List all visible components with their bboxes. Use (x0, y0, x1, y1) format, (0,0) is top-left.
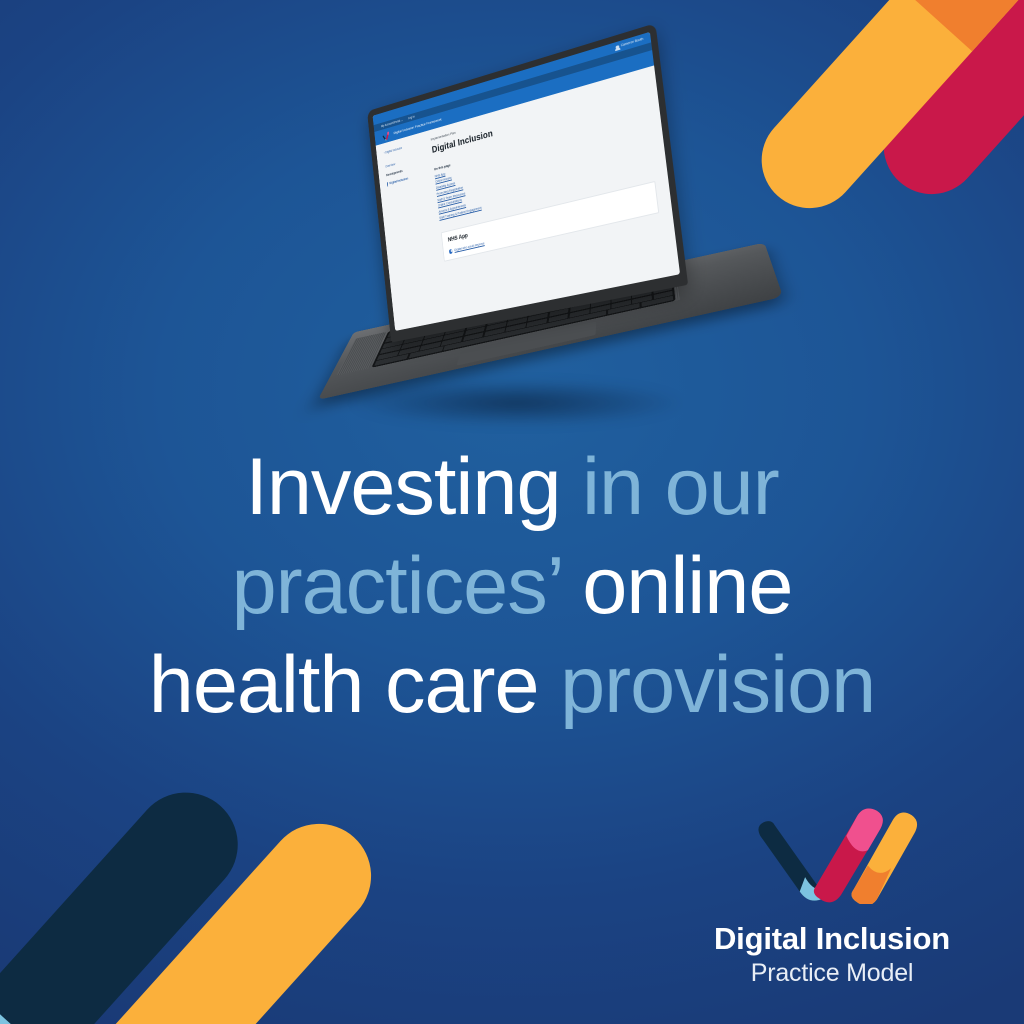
headline: Investing in our practices’ online healt… (0, 438, 1024, 734)
headline-word-practices: practices’ (232, 541, 561, 631)
brand-lockup: Digital Inclusion Practice Model (682, 800, 982, 988)
headline-word-online: online (582, 541, 792, 631)
lockup-title: Digital Inclusion (682, 922, 982, 956)
laptop-mockup: Cameron Booth My Account/Portal ⌄ Log in (280, 0, 841, 448)
digital-inclusion-logo-icon (742, 800, 922, 904)
headline-word-health-care: health care (149, 640, 539, 730)
ribbon-light-blue-bar (0, 771, 259, 1024)
poster-canvas: Cameron Booth My Account/Portal ⌄ Log in (0, 0, 1024, 1024)
logo-pink-highlight (846, 808, 883, 851)
ribbon-orange-bar-bottom (27, 802, 392, 1024)
headline-line-2: practices’ online (48, 537, 976, 636)
ribbon-pink-bar (864, 0, 1024, 214)
sidebar-breadcrumb[interactable]: ‹ Digital Inclusion (384, 138, 431, 156)
ribbon-navy-bar (0, 771, 259, 1024)
back-arrow-icon (449, 249, 453, 254)
headline-line-1: Investing in our (48, 438, 976, 537)
digital-inclusion-mark-icon (382, 129, 392, 141)
user-icon (616, 45, 619, 49)
headline-word-investing: Investing (245, 442, 560, 532)
headline-line-3: health care provision (48, 636, 976, 735)
back-link-label: Digital who could improve (454, 241, 485, 253)
headline-word-in-our: in our (582, 442, 779, 532)
lockup-subtitle: Practice Model (682, 959, 982, 988)
ribbon-crimson-bar (864, 0, 1024, 214)
ribbon-yellow-bar-bottom (27, 802, 392, 1024)
laptop-screen: Cameron Booth My Account/Portal ⌄ Log in (373, 32, 680, 331)
headline-word-provision: provision (560, 640, 875, 730)
